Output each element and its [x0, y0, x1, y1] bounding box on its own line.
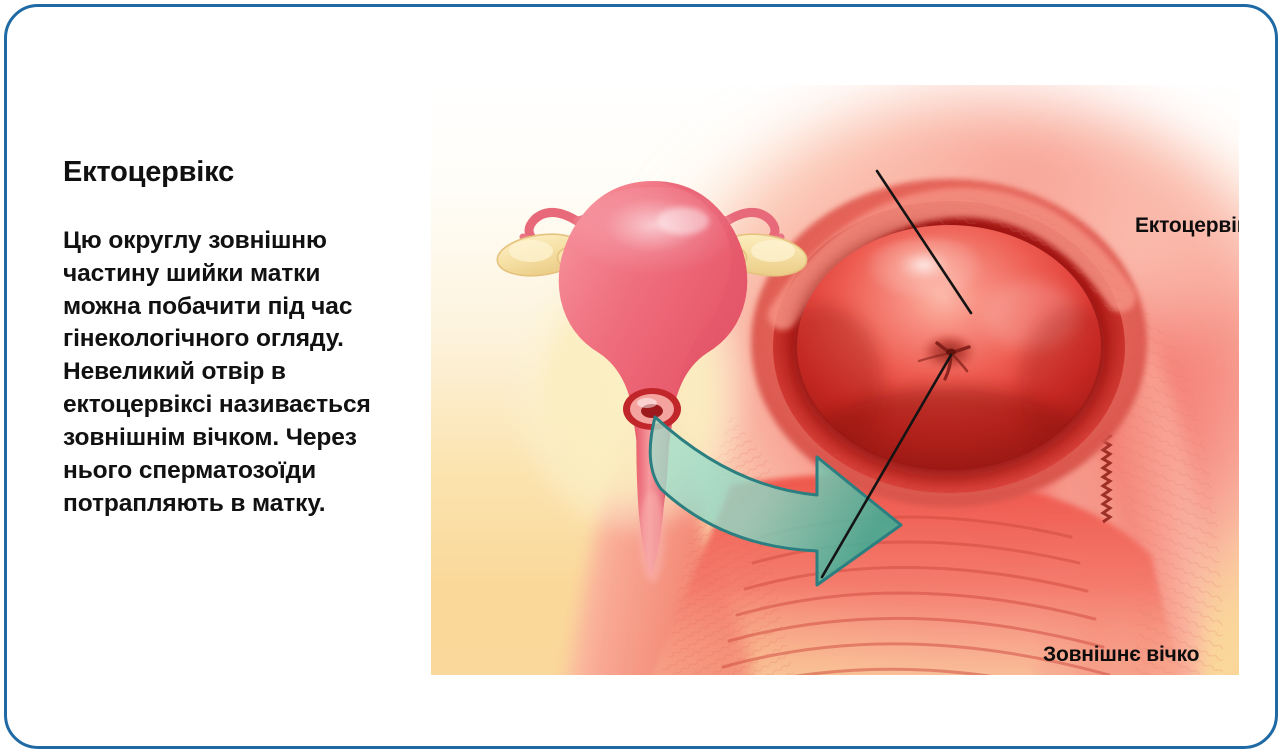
label-external-os: Зовнішнє вічко — [1043, 643, 1199, 667]
page-title: Ектоцервікс — [63, 157, 393, 189]
text-column: Ектоцервікс Цю округлу зовнішню частину … — [63, 157, 393, 520]
anatomy-svg — [431, 85, 1239, 675]
cervix-anatomy-illustration: Ектоцервікс Зовнішнє вічко — [431, 85, 1239, 675]
content-card: Ектоцервікс Цю округлу зовнішню частину … — [4, 4, 1278, 749]
body-paragraph: Цю округлу зовнішню частину шийки матки … — [63, 225, 393, 520]
label-ectocervix: Ектоцервікс — [1135, 214, 1239, 238]
